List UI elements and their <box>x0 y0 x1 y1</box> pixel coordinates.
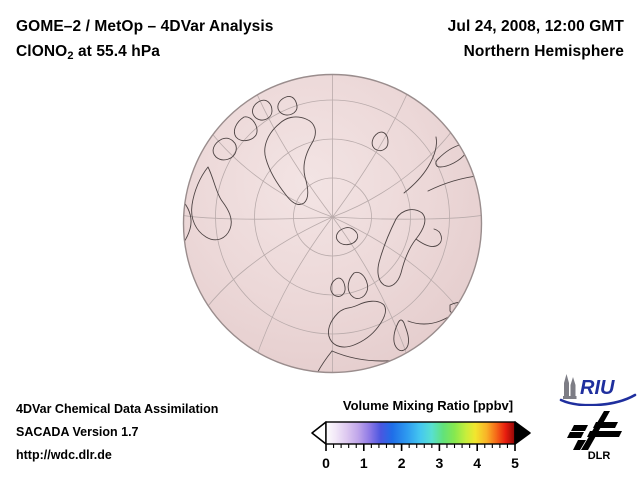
region-label: Northern Hemisphere <box>448 39 624 64</box>
species-subtitle: ClONO2 at 55.4 hPa <box>16 39 274 69</box>
figure-canvas: GOME–2 / MetOp – 4DVar Analysis ClONO2 a… <box>0 0 640 480</box>
datetime-label: Jul 24, 2008, 12:00 GMT <box>448 14 624 39</box>
credit-line-2: SACADA Version 1.7 <box>16 421 218 444</box>
colorbar-tick-label: 2 <box>398 455 406 471</box>
colorbar-tick-label: 0 <box>322 455 330 471</box>
credit-url: http://wdc.dlr.de <box>16 444 218 467</box>
orthographic-projection <box>182 73 483 374</box>
colorbar-ticks <box>326 444 515 451</box>
credit-line-1: 4DVar Chemical Data Assimilation <box>16 398 218 421</box>
colorbar-under-cap <box>312 422 326 444</box>
riu-wordmark: RIU <box>580 377 615 399</box>
header-right: Jul 24, 2008, 12:00 GMT Northern Hemisph… <box>448 14 624 64</box>
page-title: GOME–2 / MetOp – 4DVar Analysis <box>16 14 274 39</box>
dlr-bird-icon <box>567 411 622 450</box>
cathedral-spires-icon <box>563 374 577 399</box>
colorbar-tick-label: 4 <box>473 455 481 471</box>
colorbar: Volume Mixing Ratio [ppbv] 012345 <box>300 398 548 474</box>
pressure-level-label: at 55.4 hPa <box>74 43 161 60</box>
colorbar-tick-label: 1 <box>360 455 368 471</box>
colorbar-gradient <box>326 422 515 444</box>
species-formula: ClONO <box>16 43 67 60</box>
colorbar-graphic: 012345 <box>300 419 548 475</box>
footer-credits: 4DVar Chemical Data Assimilation SACADA … <box>16 398 218 467</box>
colorbar-tick-label: 3 <box>436 455 444 471</box>
globe-map <box>182 73 483 374</box>
dlr-logo: DLR <box>566 410 632 460</box>
dlr-wordmark: DLR <box>588 450 611 460</box>
colorbar-tick-label: 5 <box>511 455 519 471</box>
colorbar-over-cap <box>515 422 530 444</box>
header-left: GOME–2 / MetOp – 4DVar Analysis ClONO2 a… <box>16 14 274 69</box>
colorbar-title: Volume Mixing Ratio [ppbv] <box>308 398 548 414</box>
colorbar-tick-labels: 012345 <box>322 455 519 471</box>
riu-logo: RIU <box>558 372 638 406</box>
